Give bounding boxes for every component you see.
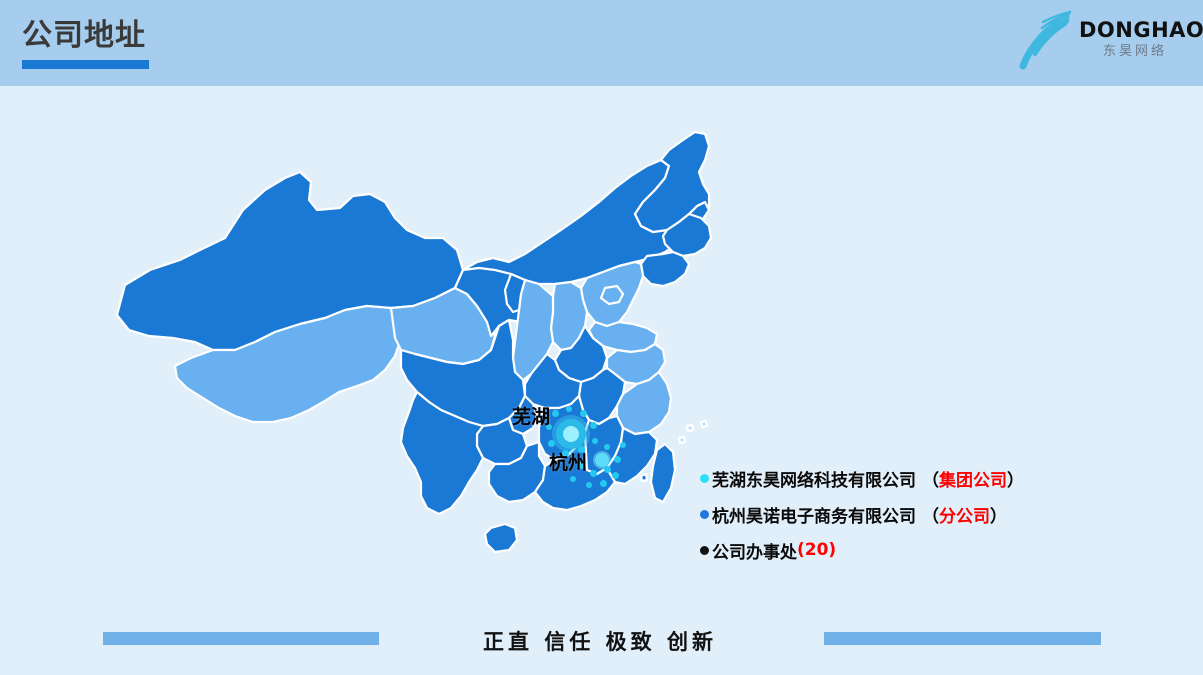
office-dot bbox=[590, 422, 597, 429]
office-dot bbox=[586, 482, 592, 488]
office-dot bbox=[566, 406, 572, 412]
legend-label: 杭州昊诺电子商务有限公司 bbox=[712, 502, 916, 527]
china-map bbox=[95, 110, 715, 610]
legend-bullet-icon bbox=[700, 546, 709, 555]
legend-tag-close: ） bbox=[990, 507, 1007, 527]
china-map-svg bbox=[95, 110, 715, 610]
legend-bullet-icon bbox=[700, 474, 709, 483]
footer-slogan: 正直 信任 极致 创新 bbox=[440, 626, 760, 656]
island-penghu bbox=[641, 474, 647, 481]
island-dot-1 bbox=[687, 425, 693, 431]
legend-item-offices: 公司办事处(20) bbox=[700, 532, 1120, 568]
office-dot bbox=[612, 472, 619, 479]
legend-tag: （分公司） bbox=[922, 502, 1007, 527]
office-dot bbox=[600, 480, 607, 487]
marker-wuhu-headquarters[interactable] bbox=[556, 419, 586, 449]
office-dot bbox=[590, 470, 597, 477]
legend-label: 芜湖东昊网络科技有限公司 bbox=[712, 466, 916, 491]
office-dot bbox=[552, 410, 559, 417]
marker-hangzhou-branch[interactable] bbox=[595, 453, 609, 467]
logo-name: DONGHAO bbox=[1079, 18, 1191, 42]
legend: 芜湖东昊网络科技有限公司 （集团公司） 杭州昊诺电子商务有限公司 （分公司） 公… bbox=[700, 460, 1120, 568]
wing-icon bbox=[1015, 10, 1077, 70]
island-dot-2 bbox=[701, 421, 707, 427]
province-hainan bbox=[485, 524, 517, 552]
office-dot bbox=[620, 442, 626, 448]
legend-office-count: (20) bbox=[797, 540, 836, 560]
office-dot bbox=[580, 410, 587, 417]
logo-subtitle: 东昊网络 bbox=[1079, 43, 1191, 61]
page-title-block: 公司地址 bbox=[22, 18, 282, 74]
legend-bullet-icon bbox=[700, 510, 709, 519]
legend-tag: （集团公司） bbox=[922, 466, 1024, 491]
province-liaoning bbox=[641, 252, 689, 286]
office-dot bbox=[604, 466, 611, 473]
legend-tag-open: （ bbox=[922, 507, 939, 527]
legend-tag-open: （ bbox=[922, 471, 939, 491]
slide-root: 公司地址 DONGHAO 东昊网络 bbox=[0, 0, 1203, 675]
title-underline bbox=[22, 60, 149, 69]
page-title: 公司地址 bbox=[22, 18, 282, 54]
legend-tag-text: 分公司 bbox=[939, 507, 990, 527]
legend-tag-close: ） bbox=[1007, 471, 1024, 491]
footer-bar-right bbox=[824, 632, 1101, 645]
legend-item-group-company: 芜湖东昊网络科技有限公司 （集团公司） bbox=[700, 460, 1120, 496]
legend-label: 公司办事处 bbox=[712, 538, 797, 563]
footer-bar-left bbox=[103, 632, 379, 645]
logo-text: DONGHAO 东昊网络 bbox=[1079, 18, 1191, 61]
map-label-wuhu: 芜湖 bbox=[512, 402, 550, 429]
company-logo: DONGHAO 东昊网络 bbox=[1015, 8, 1191, 74]
office-dot bbox=[604, 444, 610, 450]
office-dot bbox=[592, 438, 598, 444]
office-dot bbox=[548, 440, 555, 447]
legend-item-branch-company: 杭州昊诺电子商务有限公司 （分公司） bbox=[700, 496, 1120, 532]
office-dot bbox=[570, 476, 576, 482]
office-dot bbox=[614, 456, 621, 463]
island-dot-3 bbox=[679, 437, 685, 443]
legend-tag-text: 集团公司 bbox=[939, 471, 1007, 491]
map-label-hangzhou: 杭州 bbox=[549, 448, 587, 475]
city-beijing bbox=[601, 286, 623, 304]
